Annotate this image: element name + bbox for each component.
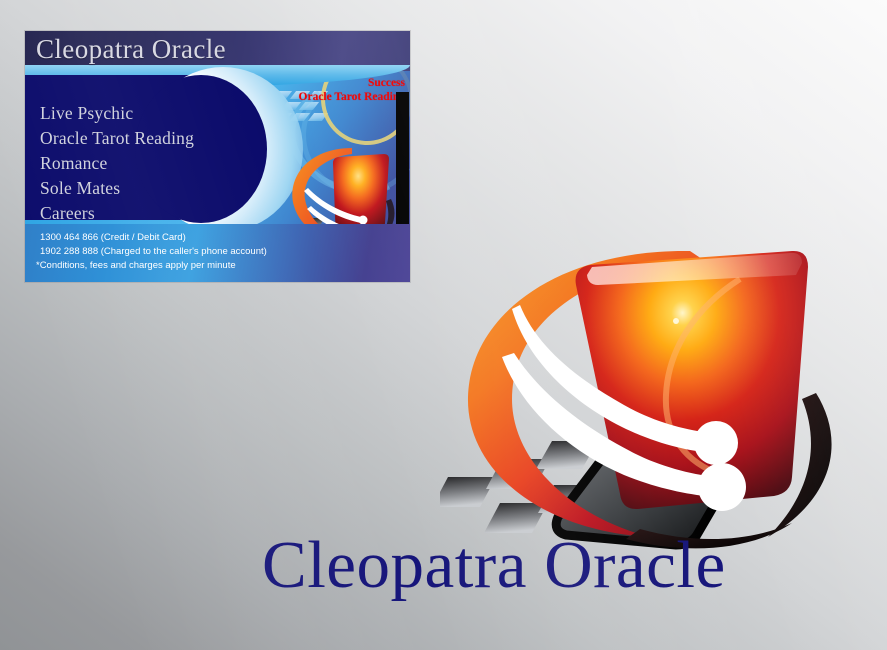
banner-promo-line2: Oracle Tarot Reading <box>299 91 405 105</box>
banner-title: Cleopatra Oracle <box>36 34 226 65</box>
banner-footer-line2: 1902 288 888 (Charged to the caller's ph… <box>36 245 267 259</box>
logo-wordmark: Cleopatra Oracle <box>262 527 726 604</box>
banner-ad-mockup: Cleopatra Oracle Live Psychic Oracle Tar… <box>25 31 410 282</box>
banner-services-list: Live Psychic Oracle Tarot Reading Romanc… <box>40 101 250 226</box>
banner-service-item: Live Psychic <box>40 101 250 126</box>
banner-service-item: Careers <box>40 201 250 226</box>
primary-logo-mark <box>440 245 860 555</box>
banner-promo-text: Success Oracle Tarot Reading <box>299 77 405 104</box>
banner-black-bar-decor <box>396 92 409 233</box>
banner-footer-line3: *Conditions, fees and charges apply per … <box>36 259 267 273</box>
banner-service-item: Romance <box>40 151 250 176</box>
banner-footer-text: 1300 464 866 (Credit / Debit Card) 1902 … <box>36 231 267 273</box>
primary-logo-svg <box>440 245 860 555</box>
logo-glint-icon <box>673 318 679 324</box>
banner-service-item: Oracle Tarot Reading <box>40 126 250 151</box>
banner-promo-line1: Success <box>299 77 405 91</box>
banner-footer-line1: 1300 464 866 (Credit / Debit Card) <box>36 231 267 245</box>
banner-service-item: Sole Mates <box>40 176 250 201</box>
logo-presentation-page: Cleopatra Oracle Live Psychic Oracle Tar… <box>0 0 887 650</box>
